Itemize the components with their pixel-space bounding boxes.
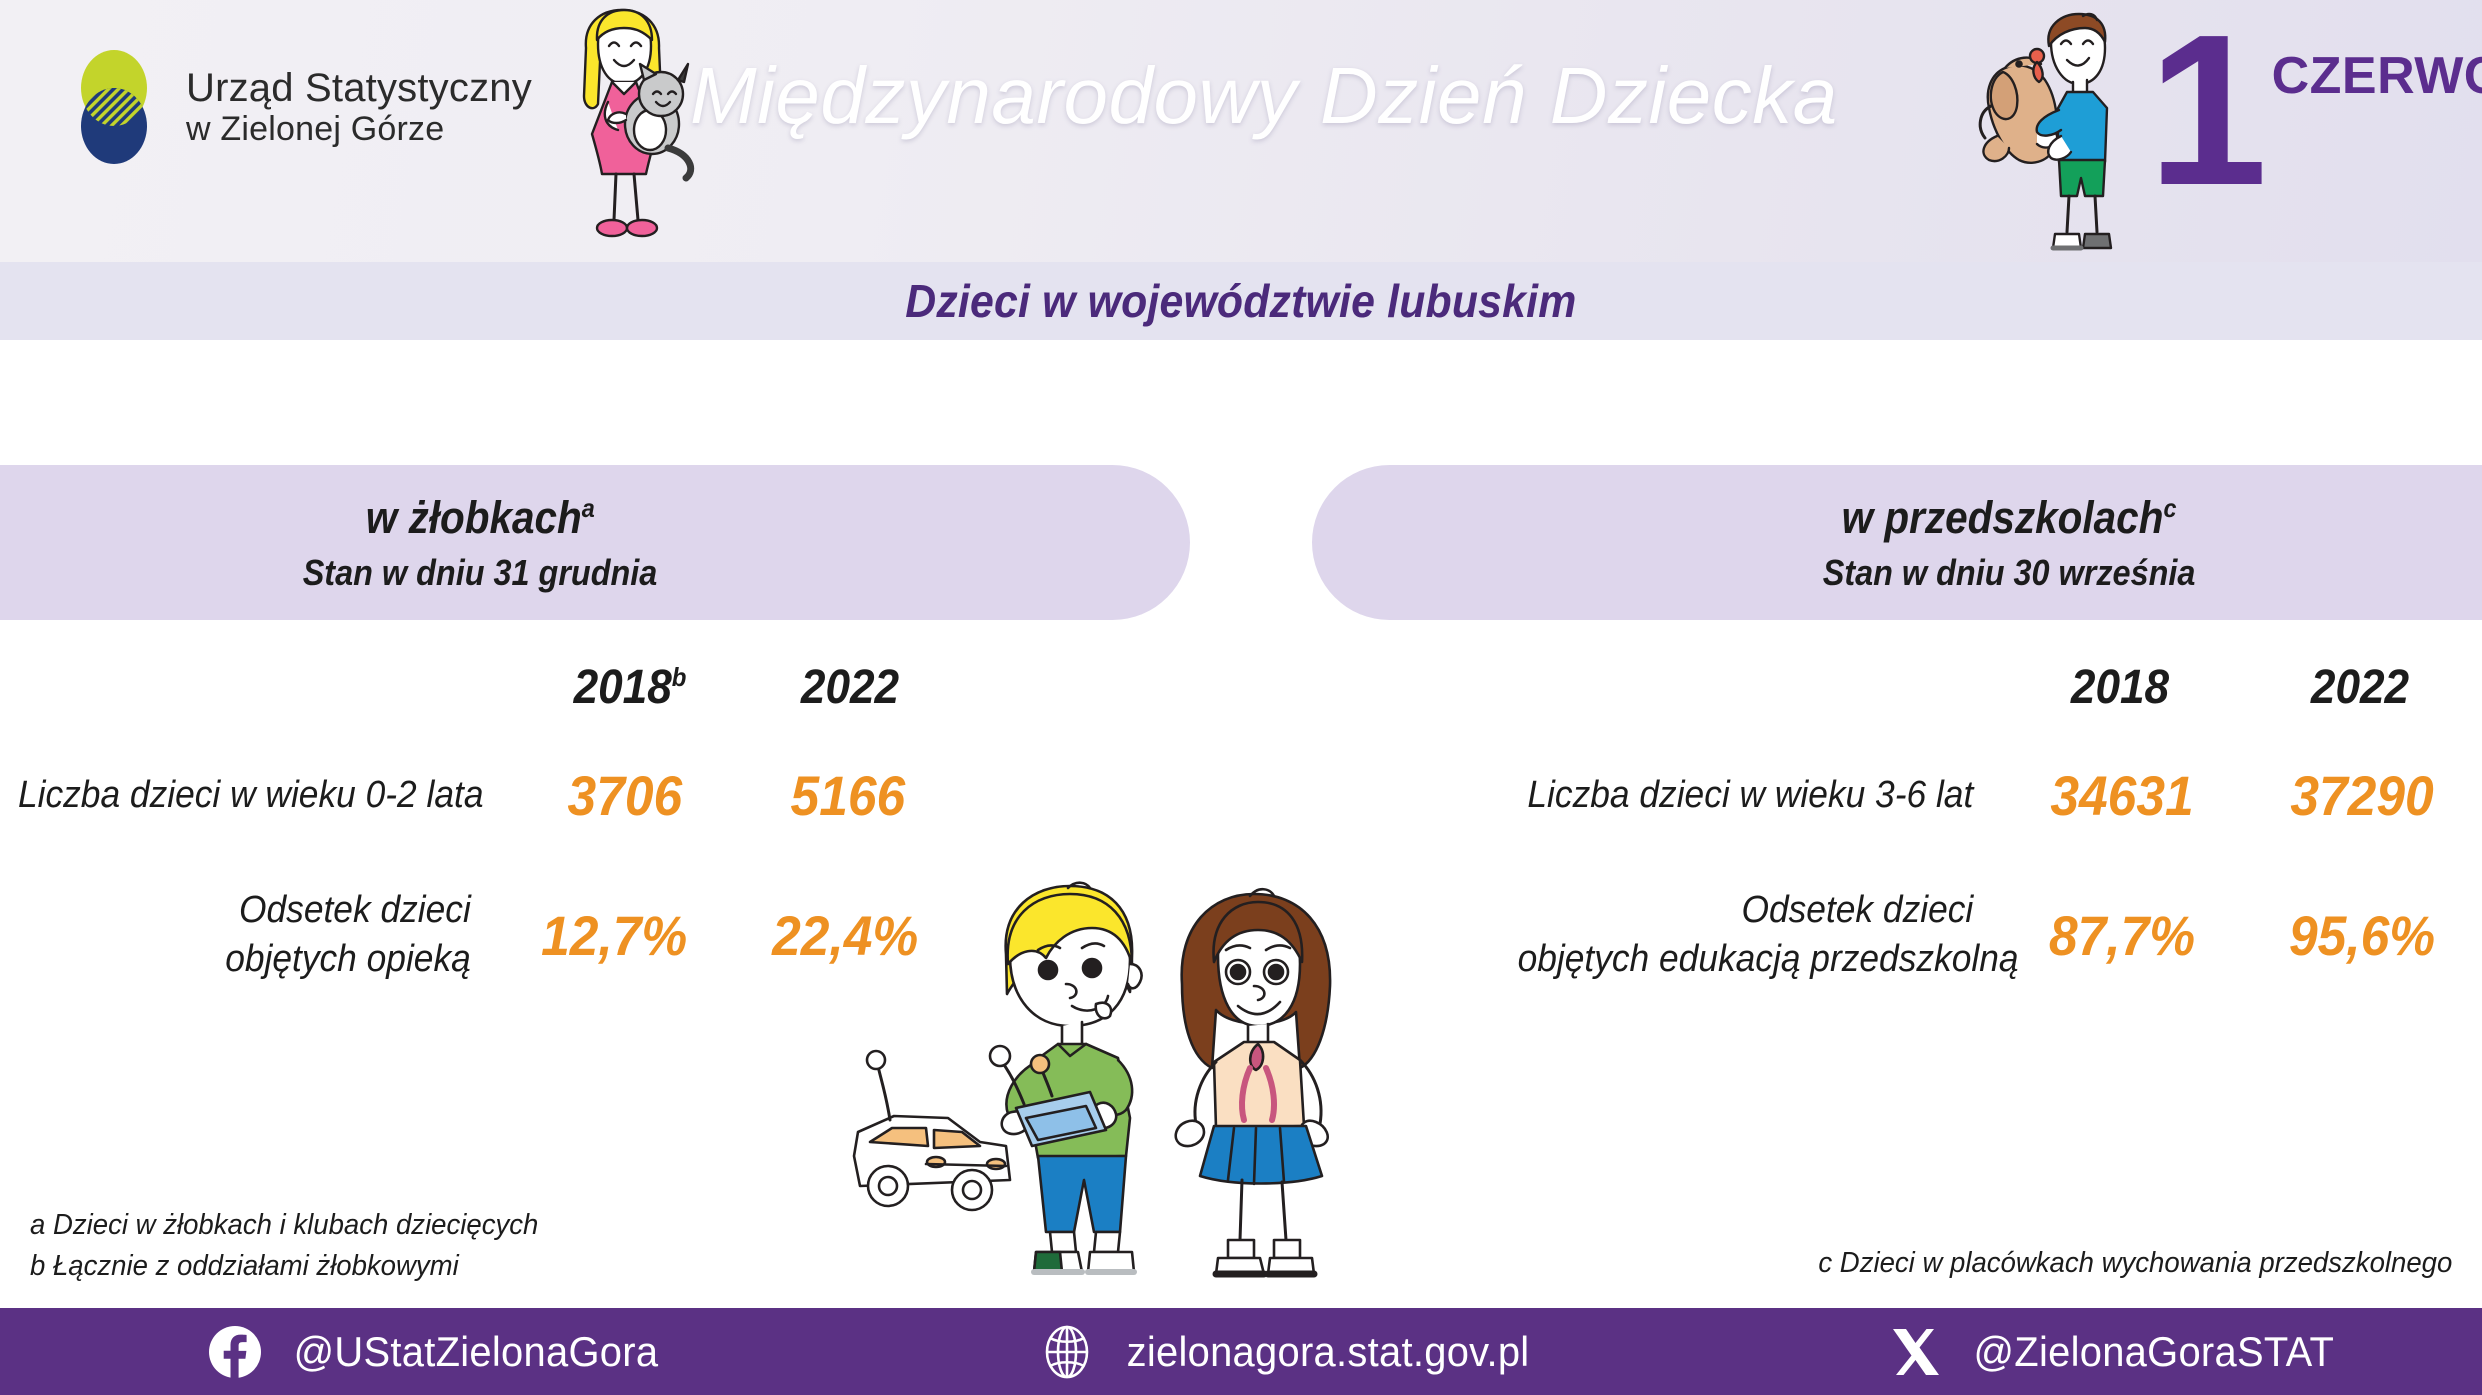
row-label-children-count-3-6: Liczba dzieci w wieku 3-6 lat <box>1518 771 1985 820</box>
footnotes-left: a Dzieci w żłobkach i klubach dziecięcyc… <box>30 1205 538 1287</box>
footnote-c: c Dzieci w placówkach wychowania przedsz… <box>1818 1243 2452 1284</box>
footnotes-right: c Dzieci w placówkach wychowania przedsz… <box>1818 1243 2452 1284</box>
row-label-children-count-0-2: Liczba dzieci w wieku 0-2 lata <box>18 771 495 820</box>
row-label-care-percentage-line2: objętych opieką <box>17 935 470 984</box>
boy-with-remote-control-car-and-girl-illustration <box>830 880 1450 1290</box>
row-label-care-percentage: Odsetek dzieci objętych opieką <box>17 886 481 983</box>
footer-facebook-label: @UStatZielonaGora <box>294 1328 659 1376</box>
infographic-page: Urząd Statystyczny w Zielonej Górze <box>0 0 2482 1395</box>
header-banner: Urząd Statystyczny w Zielonej Górze <box>0 0 2482 262</box>
globe-icon <box>1040 1325 1094 1379</box>
organization-logo: Urząd Statystyczny w Zielonej Górze <box>68 48 532 166</box>
row-value-care-percentage-2018: 12,7% <box>509 903 721 968</box>
footer-website-label: zielonagora.stat.gov.pl <box>1127 1328 1530 1376</box>
panel-title-kindergartens-superscript: c <box>2164 493 2177 523</box>
x-twitter-icon <box>1890 1326 1942 1378</box>
row-value-children-count-3-6-2022: 37290 <box>2252 763 2473 828</box>
panel-title-nurseries: w żłobkacha <box>365 492 594 544</box>
panel-title-kindergartens-text: w przedszkolach <box>1842 492 2164 543</box>
row-value-preschool-percentage-2018: 87,7% <box>2012 903 2233 968</box>
footnote-b: b Łącznie z oddziałami żłobkowymi <box>30 1246 538 1287</box>
panel-title-nurseries-text: w żłobkach <box>365 492 581 543</box>
row-value-children-count-0-2-2022: 5166 <box>745 763 951 828</box>
subtitle-text: Dzieci w województwie lubuskim <box>905 274 1576 328</box>
footer-x-label: @ZielonaGoraSTAT <box>1973 1328 2334 1376</box>
panel-title-nurseries-superscript: a <box>582 493 595 523</box>
logo-line-2: w Zielonej Górze <box>186 110 532 148</box>
footer-x-link[interactable]: @ZielonaGoraSTAT <box>1890 1326 2344 1378</box>
data-table-kindergartens: 2018 2022 Liczba dzieci w wieku 3-6 lat … <box>1500 660 2482 1010</box>
column-header-2018-kindergartens: 2018 <box>2010 660 2231 715</box>
row-label-preschool-percentage: Odsetek dzieci objętych edukacją przedsz… <box>1518 886 1985 983</box>
row-label-preschool-percentage-line1: Odsetek dzieci <box>1518 886 1974 935</box>
table-header-row-nurseries: 2018b 2022 <box>0 660 960 730</box>
footer-facebook-link[interactable]: @UStatZielonaGora <box>208 1325 668 1379</box>
table-row: Liczba dzieci w wieku 3-6 lat 34631 3729… <box>1500 730 2482 860</box>
column-header-2022-nurseries: 2022 <box>749 660 951 715</box>
panel-subtitle-nurseries: Stan w dniu 31 grudnia <box>303 552 658 594</box>
boy-with-dog-illustration <box>1975 12 2157 262</box>
table-header-row-kindergartens: 2018 2022 <box>1500 660 2482 730</box>
column-header-2018-nurseries-text: 2018 <box>574 661 672 714</box>
panel-title-kindergartens: w przedszkolachc <box>1842 492 2177 544</box>
row-value-children-count-3-6-2018: 34631 <box>2012 763 2233 828</box>
column-header-2018-nurseries: 2018b <box>529 660 731 715</box>
footer-bar: @UStatZielonaGora zielonagora.stat.gov.p… <box>0 1308 2482 1395</box>
date-day-number: 1 <box>2148 18 2260 203</box>
row-label-care-percentage-line1: Odsetek dzieci <box>17 886 470 935</box>
panel-header-nurseries: w żłobkacha Stan w dniu 31 grudnia <box>0 465 1190 620</box>
page-title: Międzynarodowy Dzień Dziecka <box>690 36 1900 156</box>
row-value-preschool-percentage-2022: 95,6% <box>2252 903 2473 968</box>
facebook-icon <box>208 1325 262 1379</box>
logo-line-1: Urząd Statystyczny <box>186 66 532 111</box>
table-row: Odsetek dzieci objętych edukacją przedsz… <box>1500 860 2482 1010</box>
row-value-children-count-0-2-2018: 3706 <box>522 763 728 828</box>
column-header-2018-nurseries-superscript: b <box>672 662 687 692</box>
data-table-nurseries: 2018b 2022 Liczba dzieci w wieku 0-2 lat… <box>0 660 960 1010</box>
date-badge: 1 CZERWCA <box>2148 18 2482 203</box>
column-header-2022-kindergartens: 2022 <box>2250 660 2471 715</box>
gus-logo-icon <box>68 48 160 166</box>
organization-name: Urząd Statystyczny w Zielonej Górze <box>186 66 532 149</box>
table-row: Liczba dzieci w wieku 0-2 lata 3706 5166 <box>0 730 960 860</box>
row-label-preschool-percentage-line2: objętych edukacją przedszkolną <box>1518 935 1974 984</box>
footer-website-link[interactable]: zielonagora.stat.gov.pl <box>1040 1325 1540 1379</box>
footnote-a: a Dzieci w żłobkach i klubach dziecięcyc… <box>30 1205 538 1246</box>
date-month-label: CZERWCA <box>2272 46 2482 106</box>
table-row: Odsetek dzieci objętych opieką 12,7% 22,… <box>0 860 960 1010</box>
subtitle-bar: Dzieci w województwie lubuskim <box>0 262 2482 340</box>
panel-header-kindergartens: w przedszkolachc Stan w dniu 30 września <box>1312 465 2482 620</box>
panel-subtitle-kindergartens: Stan w dniu 30 września <box>1823 552 2196 594</box>
